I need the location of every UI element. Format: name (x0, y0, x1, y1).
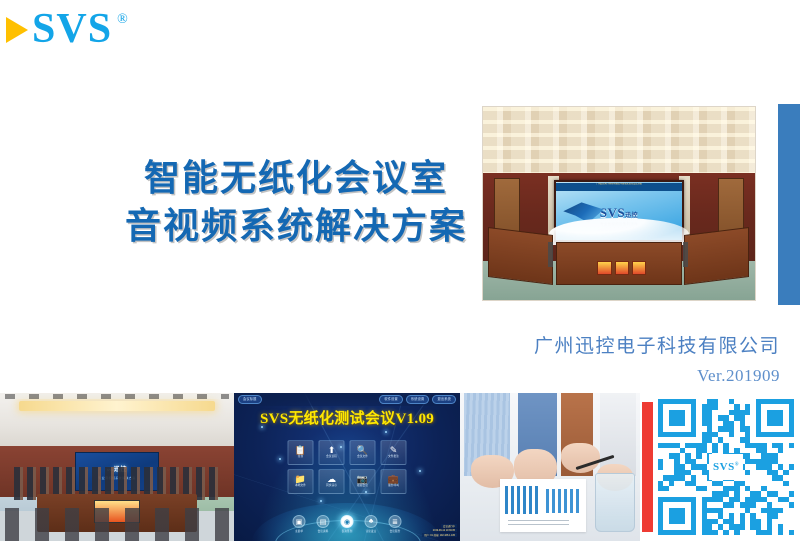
qr-code[interactable]: SVS® (658, 399, 794, 535)
hero-screen-banner: 广州迅控电子科技有限公司智能无纸化会议系统 (556, 183, 683, 191)
screen-icon: ▤ (317, 515, 330, 528)
vote-icon: ◉ (341, 515, 354, 528)
ui-nav-label: 讨论发言 (366, 529, 377, 533)
title-line-1: 智能无纸化会议室 (96, 155, 496, 203)
ui-status-line: 2019-09-12 10:36:05 (431, 529, 457, 532)
home-icon: ▣ (293, 515, 306, 528)
ui-app-video-conf[interactable]: 📷 视频会议 (350, 469, 376, 494)
ui-app-label: 同步演示 (326, 485, 337, 488)
ui-nav-discussion[interactable]: ♣ 讨论发言 (365, 515, 378, 533)
ui-app-documents[interactable]: 🔍 会议文件 (350, 440, 376, 465)
play-triangle-icon (6, 17, 28, 43)
qr-center-logo: SVS® (709, 454, 743, 480)
ui-status-readout: 会议进行中 2019-09-12 10:36:05 用户: 01 终端: 192… (422, 524, 457, 537)
cloud-icon: ☁ (327, 475, 336, 484)
ui-app-label: 签到 (298, 456, 303, 459)
ui-app-agenda[interactable]: ⬆ 会议议程 (319, 440, 345, 465)
ui-nav-label: 主菜单 (295, 529, 303, 533)
ui-exit-button[interactable]: 退出系统 (432, 395, 456, 403)
accent-bar (778, 104, 800, 305)
room-ceiling (0, 393, 234, 452)
chart-document (500, 479, 586, 532)
ui-nav-main-menu[interactable]: ▣ 主菜单 (293, 515, 306, 533)
qr-red-accent-bar (642, 402, 653, 532)
ui-app-label: 文件批注 (388, 456, 399, 459)
water-glass (595, 473, 635, 532)
file-upload-icon: ⬆ (328, 446, 336, 455)
hero-tabletop-monitors (597, 261, 646, 275)
hero-conference-room-image: 广州迅控电子科技有限公司智能无纸化会议系统 SVS迅控 专业音视频设备制造商 (482, 106, 756, 301)
registered-trademark-icon: ® (117, 12, 128, 28)
ui-app-label: 视频会议 (357, 485, 368, 488)
qr-logo-trademark: ® (735, 462, 739, 467)
slide-root: SVS ® 智能无纸化会议室 音视频系统解决方案 广州迅控电子科技有限公司智能无… (0, 0, 800, 541)
svs-logo: SVS ® (6, 8, 128, 50)
ui-system-settings-button[interactable]: 系统设置 (406, 395, 430, 403)
strip-panel-meeting-room: SVS迅控 专业音视频系统解决方案 (0, 393, 234, 541)
ui-nav-materials[interactable]: ▤ 会议资料 (317, 515, 330, 533)
hero-table-wing-right (684, 227, 749, 285)
document-search-icon: 🔍 (357, 446, 368, 455)
company-name: 广州迅控电子科技有限公司 (534, 331, 780, 358)
hero-led-screen: 广州迅控电子科技有限公司智能无纸化会议系统 SVS迅控 专业音视频设备制造商 (554, 180, 685, 242)
hero-table-wing-left (488, 227, 553, 285)
briefcase-icon: 💼 (388, 475, 399, 484)
ui-software-settings-button[interactable]: 软件设置 (379, 395, 403, 403)
folder-icon: 📁 (295, 475, 306, 484)
logo-wordmark: SVS (32, 8, 112, 50)
strip-panel-business-hands (460, 393, 640, 541)
ui-app-signin[interactable]: 📋 签到 (288, 440, 314, 465)
doc-text-lines (508, 520, 568, 527)
ui-nav-label: 会议资料 (318, 529, 329, 533)
group-icon: ♣ (365, 515, 378, 528)
ui-app-service-call[interactable]: 💼 服务呼叫 (381, 469, 407, 494)
qr-logo-text: SVS (713, 461, 735, 473)
ui-bottom-nav: ▣ 主菜单 ▤ 会议资料 ◉ 表决签到 ♣ 讨论发言 ≣ 会议服务 (293, 515, 402, 533)
title-line-2: 音视频系统解决方案 (96, 203, 496, 251)
clipboard-icon: 📋 (295, 446, 306, 455)
doc-bar-chart-right (546, 489, 581, 512)
ui-app-label: 服务呼叫 (388, 485, 399, 488)
ui-app-grid: 📋 签到 ⬆ 会议议程 🔍 会议文件 ✎ 文件批注 📁 本地文件 (288, 440, 407, 494)
ui-topbar-actions: 软件设置 系统设置 退出系统 (379, 395, 456, 403)
edit-document-icon: ✎ (390, 446, 398, 455)
ui-meeting-title-pill[interactable]: 会议标题 (238, 395, 262, 403)
ui-top-bar: 会议标题 软件设置 系统设置 退出系统 (234, 393, 460, 406)
ui-status-line: 会议进行中 (441, 524, 457, 528)
ui-status-line: 用户: 01 终端: 192.168.1.105 (422, 533, 457, 537)
page-title: 智能无纸化会议室 音视频系统解决方案 (96, 155, 496, 250)
ui-app-label: 本地文件 (295, 485, 306, 488)
list-icon: ≣ (389, 515, 402, 528)
hero-ceiling (483, 107, 755, 176)
ui-app-sync-present[interactable]: ☁ 同步演示 (319, 469, 345, 494)
hero-screen-wave (549, 218, 688, 245)
ui-app-label: 会议议程 (326, 456, 337, 459)
version-label: Ver.201909 (697, 366, 780, 386)
strip-panel-paperless-ui: 会议标题 软件设置 系统设置 退出系统 SVS无纸化测试会议V1.09 📋 签到… (234, 393, 460, 541)
bottom-image-strip: SVS迅控 专业音视频系统解决方案 会议标题 软件设置 系统设置 (0, 393, 800, 541)
ui-app-annotate[interactable]: ✎ 文件批注 (381, 440, 407, 465)
ui-nav-vote-signin[interactable]: ◉ 表决签到 (341, 515, 354, 533)
strip-panel-qr: SVS® (640, 393, 800, 541)
doc-bar-chart-left (505, 486, 541, 514)
ui-app-label: 会议文件 (357, 456, 368, 459)
ui-nav-services[interactable]: ≣ 会议服务 (389, 515, 402, 533)
ui-app-title: SVS无纸化测试会议V1.09 (234, 407, 460, 428)
ui-nav-label: 会议服务 (390, 529, 401, 533)
room-foreground-chairs (5, 508, 230, 541)
ui-nav-label: 表决签到 (342, 529, 353, 533)
camera-icon: 📷 (357, 475, 368, 484)
ui-app-local-files[interactable]: 📁 本地文件 (288, 469, 314, 494)
